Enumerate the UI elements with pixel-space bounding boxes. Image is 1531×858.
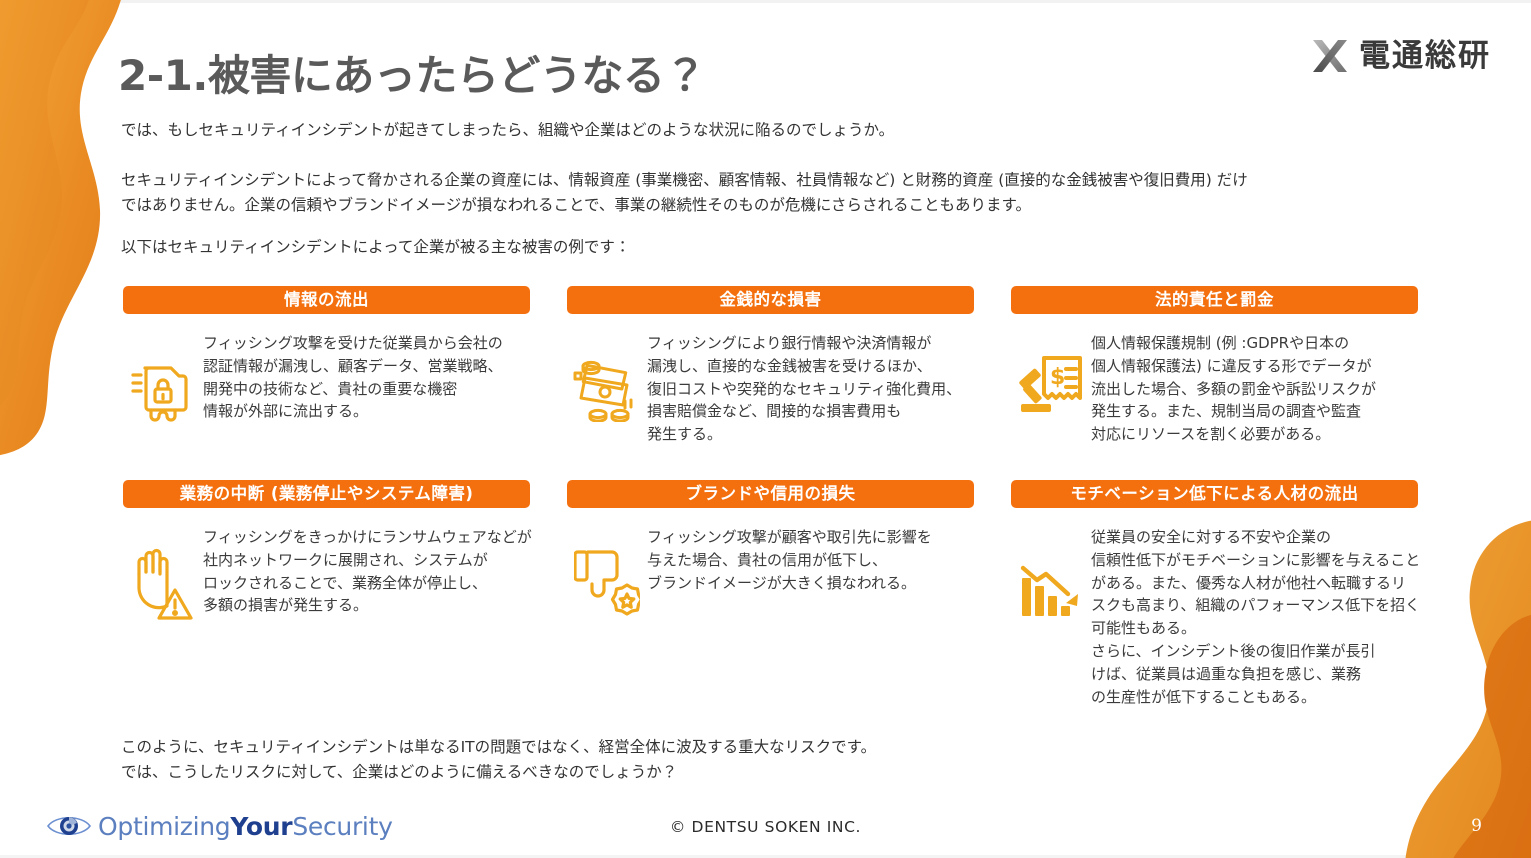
page-title: 2-1.被害にあったらどうなる？ bbox=[118, 42, 706, 103]
card-text: フィッシングにより銀行情報や決済情報が 漏洩し、直接的な金銭被害を受けるほか、 … bbox=[647, 330, 974, 446]
top-edge-line bbox=[0, 0, 1531, 3]
card-text-line: フィッシング攻撃を受けた従業員から会社の bbox=[203, 332, 530, 355]
intro-paragraph-line1: セキュリティインシデントによって脅かされる企業の資産には、情報資産 (事業機密、… bbox=[121, 168, 1411, 193]
card-body: フィッシングをきっかけにランサムウェアなどが 社内ネットワークに展開され、システ… bbox=[123, 524, 530, 674]
corporate-name: 電通総研 bbox=[1359, 41, 1491, 72]
card-text-line: 発生する。 bbox=[647, 423, 974, 446]
money-cash-coins-icon bbox=[567, 330, 647, 422]
card-text-line: 損害賠償金など、間接的な損害費用も bbox=[647, 400, 974, 423]
card-text-line: ブランドイメージが大きく損なわれる。 bbox=[647, 572, 974, 595]
closing-block: このように、セキュリティインシデントは単なるITの問題ではなく、経営全体に波及す… bbox=[121, 735, 876, 785]
svg-text:$: $ bbox=[1050, 365, 1065, 390]
card-title: ブランドや信用の損失 bbox=[567, 480, 974, 508]
card-text-line: スクも高まり、組織のパフォーマンス低下を招く bbox=[1091, 594, 1420, 617]
card-text-line: けば、従業員は過重な負担を感じ、業務 bbox=[1091, 663, 1420, 686]
card-body: フィッシング攻撃が顧客や取引先に影響を 与えた場合、貴社の信用が低下し、 ブラン… bbox=[567, 524, 974, 674]
card-text-line: 流出した場合、多額の罰金や訴訟リスクが bbox=[1091, 378, 1418, 401]
card-text-line: 個人情報保護法) に違反する形でデータが bbox=[1091, 355, 1418, 378]
card-title: 情報の流出 bbox=[123, 286, 530, 314]
card-body: 従業員の安全に対する不安や企業の 信頼性低下がモチベーションに影響を与えること … bbox=[1011, 524, 1418, 708]
card-financial-damage: 金銭的な損害 bbox=[567, 286, 974, 480]
card-body: フィッシング攻撃を受けた従業員から会社の 認証情報が漏洩し、顧客データ、営業戦略… bbox=[123, 330, 530, 480]
slide-root: 電通総研 2-1.被害にあったらどうなる？ では、もしセキュリティインシデントが… bbox=[0, 0, 1531, 858]
card-row-1: 情報の流出 bbox=[123, 286, 1419, 480]
card-text-line: の生産性が低下することもある。 bbox=[1091, 686, 1420, 709]
thumbs-down-badge-icon bbox=[567, 524, 647, 620]
card-row-2: 業務の中断 (業務停止やシステム障害) bbox=[123, 480, 1419, 708]
card-title: モチベーション低下による人材の流出 bbox=[1011, 480, 1418, 508]
card-body: $ 個人情報保護規制 (例 :GDPRや日本の 個人情報保護法) に違反する形で… bbox=[1011, 330, 1418, 480]
card-title: 金銭的な損害 bbox=[567, 286, 974, 314]
card-text-line: 可能性もある。 bbox=[1091, 617, 1420, 640]
card-text: フィッシング攻撃が顧客や取引先に影響を 与えた場合、貴社の信用が低下し、 ブラン… bbox=[647, 524, 974, 594]
card-text: フィッシングをきっかけにランサムウェアなどが 社内ネットワークに展開され、システ… bbox=[203, 524, 532, 617]
corporate-logo: 電通総研 bbox=[1310, 36, 1491, 76]
card-text-line: ロックされることで、業務全体が停止し、 bbox=[203, 572, 532, 595]
card-text-line: 社内ネットワークに展開され、システムが bbox=[203, 549, 532, 572]
card-text-line: フィッシング攻撃が顧客や取引先に影響を bbox=[647, 526, 974, 549]
card-text-line: さらに、インシデント後の復旧作業が長引 bbox=[1091, 640, 1420, 663]
x-mark-icon bbox=[1310, 36, 1350, 76]
hand-stop-warning-icon bbox=[123, 524, 203, 622]
damage-card-grid: 情報の流出 bbox=[123, 286, 1419, 708]
card-text: 個人情報保護規制 (例 :GDPRや日本の 個人情報保護法) に違反する形でデー… bbox=[1091, 330, 1418, 446]
declining-bar-chart-icon bbox=[1011, 524, 1091, 618]
card-title: 法的責任と罰金 bbox=[1011, 286, 1418, 314]
intro-paragraph-line2: ではありません。企業の信頼やブランドイメージが損なわれることで、事業の継続性その… bbox=[121, 193, 1411, 218]
card-text-line: 個人情報保護規制 (例 :GDPRや日本の bbox=[1091, 332, 1418, 355]
card-text-line: 漏洩し、直接的な金銭被害を受けるほか、 bbox=[647, 355, 974, 378]
closing-line-2: では、こうしたリスクに対して、企業はどのように備えるべきなのでしょうか？ bbox=[121, 760, 876, 785]
card-text-line: がある。また、優秀な人材が他社へ転職するリ bbox=[1091, 572, 1420, 595]
card-text-line: 開発中の技術など、貴社の重要な機密 bbox=[203, 378, 530, 401]
card-text: フィッシング攻撃を受けた従業員から会社の 認証情報が漏洩し、顧客データ、営業戦略… bbox=[203, 330, 530, 423]
intro-block: では、もしセキュリティインシデントが起きてしまったら、組織や企業はどのような状況… bbox=[121, 118, 1411, 277]
card-text-line: 多額の損害が発生する。 bbox=[203, 594, 532, 617]
card-text-line: 発生する。また、規制当局の調査や監査 bbox=[1091, 400, 1418, 423]
card-information-leak: 情報の流出 bbox=[123, 286, 530, 480]
card-talent-outflow: モチベーション低下による人材の流出 bbox=[1011, 480, 1418, 708]
card-text-line: 与えた場合、貴社の信用が低下し、 bbox=[647, 549, 974, 572]
card-text-line: 対応にリソースを割く必要がある。 bbox=[1091, 423, 1418, 446]
card-title: 業務の中断 (業務停止やシステム障害) bbox=[123, 480, 530, 508]
card-text: 従業員の安全に対する不安や企業の 信頼性低下がモチベーションに影響を与えること … bbox=[1091, 524, 1420, 708]
page-number: 9 bbox=[1471, 816, 1482, 836]
closing-line-1: このように、セキュリティインシデントは単なるITの問題ではなく、経営全体に波及す… bbox=[121, 735, 876, 760]
card-text-line: 従業員の安全に対する不安や企業の bbox=[1091, 526, 1420, 549]
intro-lead: では、もしセキュリティインシデントが起きてしまったら、組織や企業はどのような状況… bbox=[121, 118, 1411, 143]
card-text-line: 情報が外部に流出する。 bbox=[203, 400, 530, 423]
copyright-text: © DENTSU SOKEN INC. bbox=[0, 818, 1531, 836]
card-text-line: フィッシングをきっかけにランサムウェアなどが bbox=[203, 526, 532, 549]
card-brand-trust-loss: ブランドや信用の損失 bbox=[567, 480, 974, 708]
card-legal-liability: 法的責任と罰金 $ bbox=[1011, 286, 1418, 480]
card-text-line: フィッシングにより銀行情報や決済情報が bbox=[647, 332, 974, 355]
card-body: フィッシングにより銀行情報や決済情報が 漏洩し、直接的な金銭被害を受けるほか、 … bbox=[567, 330, 974, 480]
card-text-line: 復旧コストや突発的なセキュリティ強化費用、 bbox=[647, 378, 974, 401]
card-text-line: 認証情報が漏洩し、顧客データ、営業戦略、 bbox=[203, 355, 530, 378]
folder-lock-leak-icon bbox=[123, 330, 203, 428]
card-business-interruption: 業務の中断 (業務停止やシステム障害) bbox=[123, 480, 530, 708]
intro-list-heading: 以下はセキュリティインシデントによって企業が被る主な被害の例です： bbox=[121, 235, 1411, 260]
card-text-line: 信頼性低下がモチベーションに影響を与えること bbox=[1091, 549, 1420, 572]
gavel-invoice-icon: $ bbox=[1011, 330, 1091, 414]
